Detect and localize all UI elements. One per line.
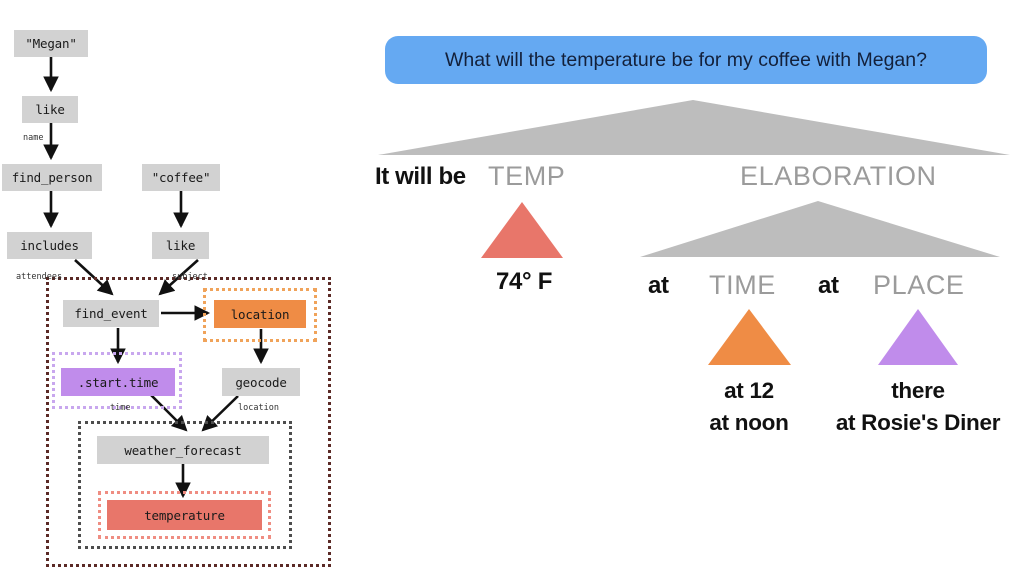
graph-node-temperature[interactable]: temperature: [107, 500, 262, 530]
graph-node-megan[interactable]: "Megan": [14, 30, 88, 57]
label-at-1: at: [648, 272, 669, 300]
graph-node-start-time[interactable]: .start.time: [61, 368, 175, 396]
temp-triangle: [481, 202, 563, 258]
label-place: PLACE: [873, 270, 965, 301]
figure-root: "Megan" like find_person "coffee" includ…: [0, 0, 1024, 586]
graph-node-find-person[interactable]: find_person: [2, 164, 102, 191]
label-time-value-line-1: at 12: [669, 378, 829, 404]
edge-label-attendees: attendees: [16, 272, 62, 282]
graph-node-weather-forecast[interactable]: weather_forecast: [97, 436, 269, 464]
label-place-value-line-2: at Rosie's Diner: [818, 410, 1018, 436]
label-temp-value: 74° F: [474, 268, 574, 296]
elaboration-triangle: [640, 201, 1000, 257]
label-time-value: at 12 at noon: [669, 378, 829, 436]
graph-node-includes[interactable]: includes: [7, 232, 92, 259]
label-time: TIME: [709, 270, 776, 301]
generation-tree-panel: What will the temperature be for my coff…: [350, 0, 1024, 586]
label-place-value-line-1: there: [818, 378, 1018, 404]
root-triangle: [378, 100, 1010, 155]
edge-label-time: time: [110, 403, 130, 413]
graph-node-find-event[interactable]: find_event: [63, 300, 159, 327]
edge-label-location: location: [238, 403, 279, 413]
graph-node-geocode[interactable]: geocode: [222, 368, 300, 396]
edge-label-name: name: [23, 133, 43, 143]
label-time-value-line-2: at noon: [669, 410, 829, 436]
time-triangle: [708, 309, 791, 365]
place-triangle: [878, 309, 958, 365]
edge-label-subject: subject: [172, 272, 208, 282]
graph-node-location[interactable]: location: [214, 300, 306, 328]
graph-node-like-2[interactable]: like: [152, 232, 209, 259]
label-temp: TEMP: [488, 161, 565, 192]
label-at-2: at: [818, 272, 839, 300]
label-elaboration: ELABORATION: [740, 161, 937, 192]
graph-node-coffee[interactable]: "coffee": [142, 164, 220, 191]
label-it-will-be: It will be: [375, 163, 466, 191]
graph-node-like-1[interactable]: like: [22, 96, 78, 123]
label-place-value: there at Rosie's Diner: [818, 378, 1018, 436]
semantic-graph-panel: "Megan" like find_person "coffee" includ…: [0, 0, 350, 586]
